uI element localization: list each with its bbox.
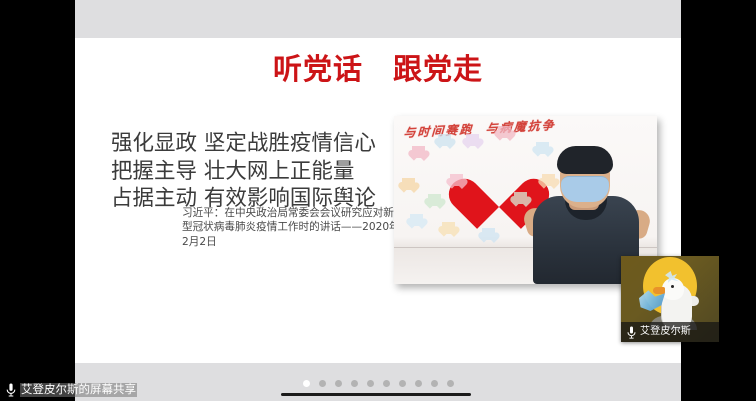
slogan-block: 强化显政 坚定战胜疫情信心 把握主导 壮大网上正能量 占据主动 有效影响国际舆论 bbox=[111, 130, 411, 213]
pager-dot-9[interactable] bbox=[431, 380, 438, 387]
mini-heart-icon bbox=[428, 194, 441, 206]
pager-dot-1[interactable] bbox=[303, 380, 310, 387]
slide-title: 听党话 跟党走 bbox=[75, 54, 681, 86]
meeting-screen: 听党话 跟党走 强化显政 坚定战胜疫情信心 把握主导 壮大网上正能量 占据主动 … bbox=[0, 0, 756, 401]
big-heart-icon bbox=[468, 158, 530, 216]
presentation-slide[interactable]: 听党话 跟党走 强化显政 坚定战胜疫情信心 把握主导 壮大网上正能量 占据主动 … bbox=[75, 38, 681, 363]
pager-dot-4[interactable] bbox=[351, 380, 358, 387]
mini-heart-icon bbox=[466, 134, 479, 146]
screen-share-label: 艾登皮尔斯的屏幕共享 bbox=[20, 383, 137, 397]
pager-dot-3[interactable] bbox=[335, 380, 342, 387]
shared-screen-viewport[interactable]: 听党话 跟党走 强化显政 坚定战胜疫情信心 把握主导 壮大网上正能量 占据主动 … bbox=[75, 0, 681, 401]
pager-dot-2[interactable] bbox=[319, 380, 326, 387]
goose-eye bbox=[671, 285, 674, 288]
pager-dot-5[interactable] bbox=[367, 380, 374, 387]
microphone-icon[interactable] bbox=[627, 326, 636, 339]
pager-dot-10[interactable] bbox=[447, 380, 454, 387]
microphone-icon[interactable] bbox=[6, 383, 16, 397]
slogan-line-2: 把握主导 壮大网上正能量 bbox=[111, 158, 411, 186]
self-view-video-tile[interactable]: 艾登皮尔斯 bbox=[621, 256, 719, 342]
goose-avatar-icon bbox=[639, 268, 701, 330]
goose-head bbox=[662, 278, 684, 300]
person-hair bbox=[557, 146, 613, 174]
home-indicator-bar bbox=[281, 393, 471, 396]
slogan-line-1: 强化显政 坚定战胜疫情信心 bbox=[111, 130, 411, 158]
self-view-name-label: 艾登皮尔斯 bbox=[640, 327, 691, 337]
mini-heart-icon bbox=[438, 134, 451, 146]
mini-heart-icon bbox=[402, 178, 415, 190]
mini-heart-icon bbox=[482, 228, 495, 240]
pager-dot-7[interactable] bbox=[399, 380, 406, 387]
mini-heart-icon bbox=[410, 214, 423, 226]
pager-dot-6[interactable] bbox=[383, 380, 390, 387]
mini-heart-icon bbox=[498, 126, 511, 138]
slide-attribution: 习近平：在中央政治局常委会会议研究应对新型冠状病毒肺炎疫情工作时的讲话——202… bbox=[182, 206, 402, 249]
mini-heart-icon bbox=[442, 222, 455, 234]
self-view-name-bar: 艾登皮尔斯 bbox=[621, 322, 719, 342]
pager-dot-8[interactable] bbox=[415, 380, 422, 387]
face-mask-icon bbox=[561, 176, 609, 202]
mini-heart-icon bbox=[412, 146, 425, 158]
mini-heart-icon bbox=[450, 174, 463, 186]
slide-photo: 与时间赛跑 与病魔抗争 bbox=[394, 116, 657, 284]
screen-share-indicator[interactable]: 艾登皮尔斯的屏幕共享 bbox=[4, 381, 142, 399]
goose-beak bbox=[653, 287, 665, 294]
slide-pagination[interactable] bbox=[75, 380, 681, 387]
